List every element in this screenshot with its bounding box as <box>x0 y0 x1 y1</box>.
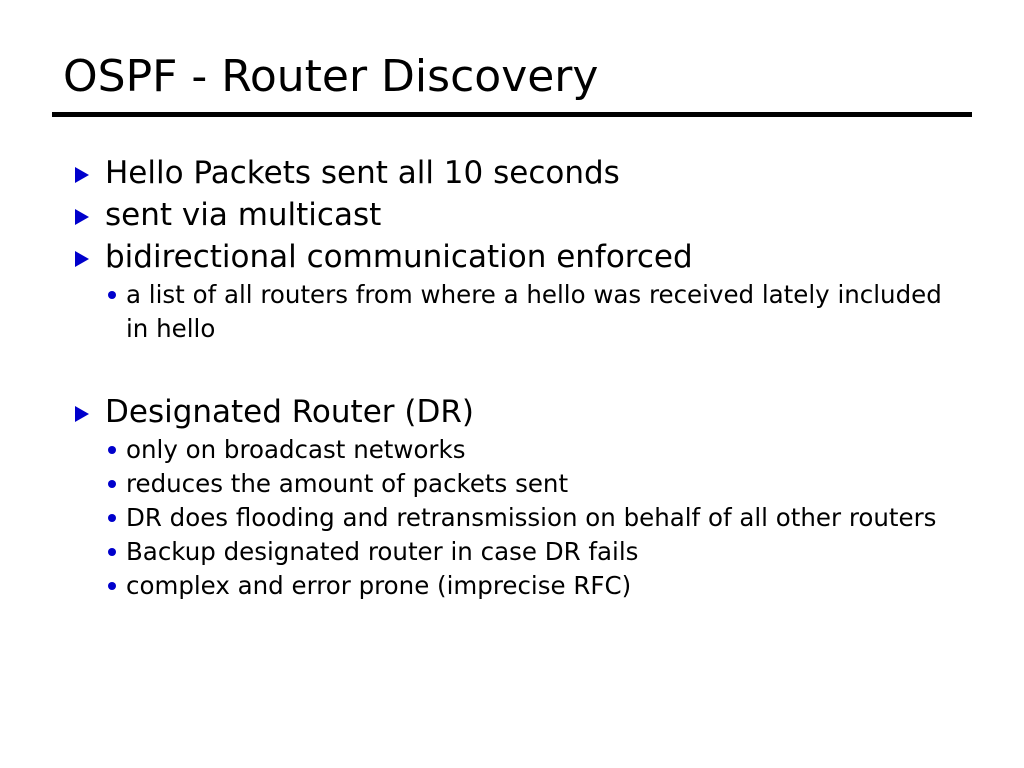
title-divider-rule <box>52 112 972 117</box>
triangle-bullet-icon <box>75 406 89 422</box>
page-title: OSPF - Router Discovery <box>52 48 972 106</box>
bullet-item-level2: Backup designated router in case DR fail… <box>63 535 963 569</box>
bullet-item-level1: Hello Packets sent all 10 seconds <box>63 152 963 194</box>
bullet-item-level2: complex and error prone (imprecise RFC) <box>63 569 963 603</box>
bullet-text: Hello Packets sent all 10 seconds <box>105 155 620 191</box>
dot-bullet-icon <box>108 548 116 556</box>
bullet-item-level2: DR does flooding and retransmission on b… <box>63 501 963 535</box>
bullet-text: Backup designated router in case DR fail… <box>126 537 638 566</box>
bullet-text: only on broadcast networks <box>126 435 465 464</box>
triangle-bullet-icon <box>75 251 89 267</box>
triangle-bullet-icon <box>75 167 89 183</box>
slide-title-block: OSPF - Router Discovery <box>52 48 972 106</box>
bullet-item-level1: Designated Router (DR) <box>63 391 963 433</box>
dot-bullet-icon <box>108 514 116 522</box>
presentation-slide: OSPF - Router Discovery Hello Packets se… <box>0 0 1024 768</box>
bullet-item-level2: reduces the amount of packets sent <box>63 467 963 501</box>
dot-bullet-icon <box>108 291 116 299</box>
triangle-bullet-icon <box>75 209 89 225</box>
bullet-text: reduces the amount of packets sent <box>126 469 568 498</box>
dot-bullet-icon <box>108 480 116 488</box>
bullet-item-level1: sent via multicast <box>63 194 963 236</box>
dot-bullet-icon <box>108 582 116 590</box>
dot-bullet-icon <box>108 446 116 454</box>
slide-body-content: Hello Packets sent all 10 secondssent vi… <box>63 152 963 603</box>
bullet-text: a list of all routers from where a hello… <box>126 280 942 343</box>
bullet-text: sent via multicast <box>105 197 381 233</box>
bullet-item-level2: only on broadcast networks <box>63 433 963 467</box>
bullet-text: bidirectional communication enforced <box>105 239 693 275</box>
bullet-text: DR does flooding and retransmission on b… <box>126 503 936 532</box>
bullet-text: Designated Router (DR) <box>105 394 474 430</box>
bullet-item-level1: bidirectional communication enforced <box>63 236 963 278</box>
bullet-text: complex and error prone (imprecise RFC) <box>126 571 631 600</box>
bullet-item-level2: a list of all routers from where a hello… <box>63 278 963 346</box>
bullet-spacer <box>63 346 963 391</box>
